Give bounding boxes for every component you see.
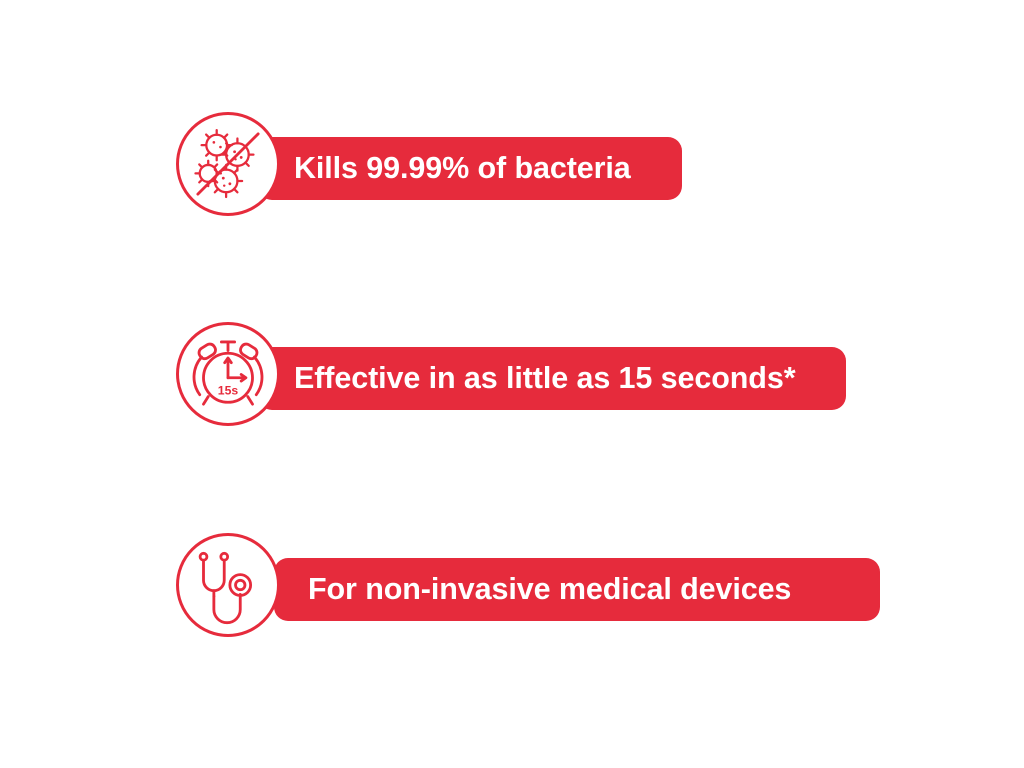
badge-bar: For non-invasive medical devices [274, 558, 880, 621]
alarm-clock-duration-label: 15s [218, 384, 239, 398]
stethoscope-icon [176, 533, 280, 637]
feature-badges-graphic: Kills 99.99% of bacteria [0, 0, 1024, 768]
badge-bar: Effective in as little as 15 seconds* [258, 347, 846, 410]
badge-bar: Kills 99.99% of bacteria [258, 137, 682, 200]
badge-label: Effective in as little as 15 seconds* [294, 347, 795, 410]
feature-badge-non-invasive-devices: For non-invasive medical devices [0, 526, 1024, 646]
badge-label: For non-invasive medical devices [308, 558, 791, 621]
no-bacteria-icon [176, 112, 280, 216]
feature-badge-effective-15-seconds: Effective in as little as 15 seconds* [0, 315, 1024, 435]
feature-badge-kills-bacteria: Kills 99.99% of bacteria [0, 105, 1024, 225]
badge-label: Kills 99.99% of bacteria [294, 137, 631, 200]
alarm-clock-icon: 15s [176, 322, 280, 426]
